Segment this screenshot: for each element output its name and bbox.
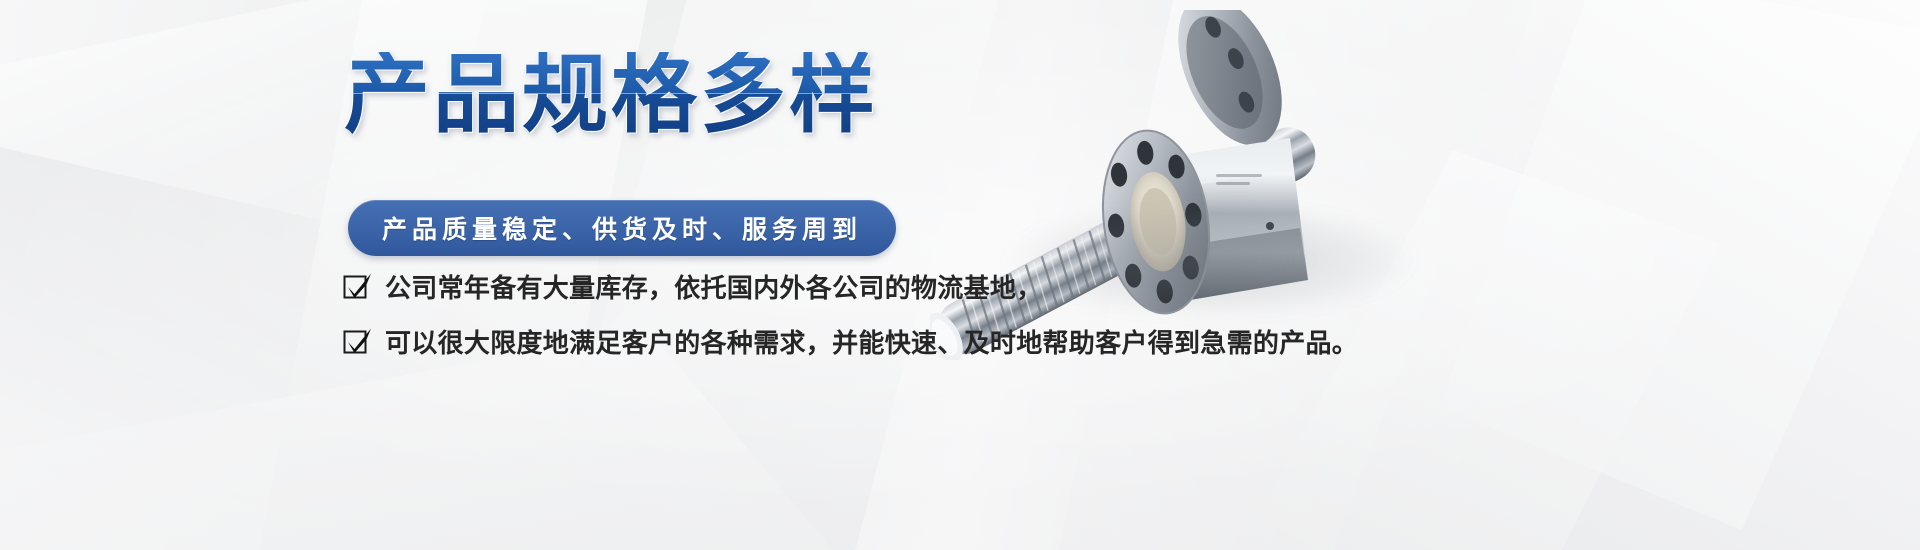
list-item-label: 可以很大限度地满足客户的各种需求，并能快速、及时地帮助客户得到急需的产品。 xyxy=(385,323,1358,360)
tagline-text: 产品质量稳定、供货及时、服务周到 xyxy=(382,210,862,246)
list-item: 可以很大限度地满足客户的各种需求，并能快速、及时地帮助客户得到急需的产品。 xyxy=(342,323,1358,360)
list-item-label: 公司常年备有大量库存，依托国内外各公司的物流基地， xyxy=(385,268,1043,305)
checkbox-checked-icon xyxy=(342,272,372,302)
feature-list: 公司常年备有大量库存，依托国内外各公司的物流基地， 可以很大限度地满足客户的各种… xyxy=(342,268,1358,378)
checkbox-checked-icon xyxy=(342,327,372,357)
tagline-pill: 产品质量稳定、供货及时、服务周到 xyxy=(348,200,896,256)
product-spec-banner: 产品规格多样 产品质量稳定、供货及时、服务周到 公司常年备有大量库存，依托国内外… xyxy=(0,0,1920,550)
list-item: 公司常年备有大量库存，依托国内外各公司的物流基地， xyxy=(342,268,1358,305)
page-title: 产品规格多样 xyxy=(344,52,878,138)
